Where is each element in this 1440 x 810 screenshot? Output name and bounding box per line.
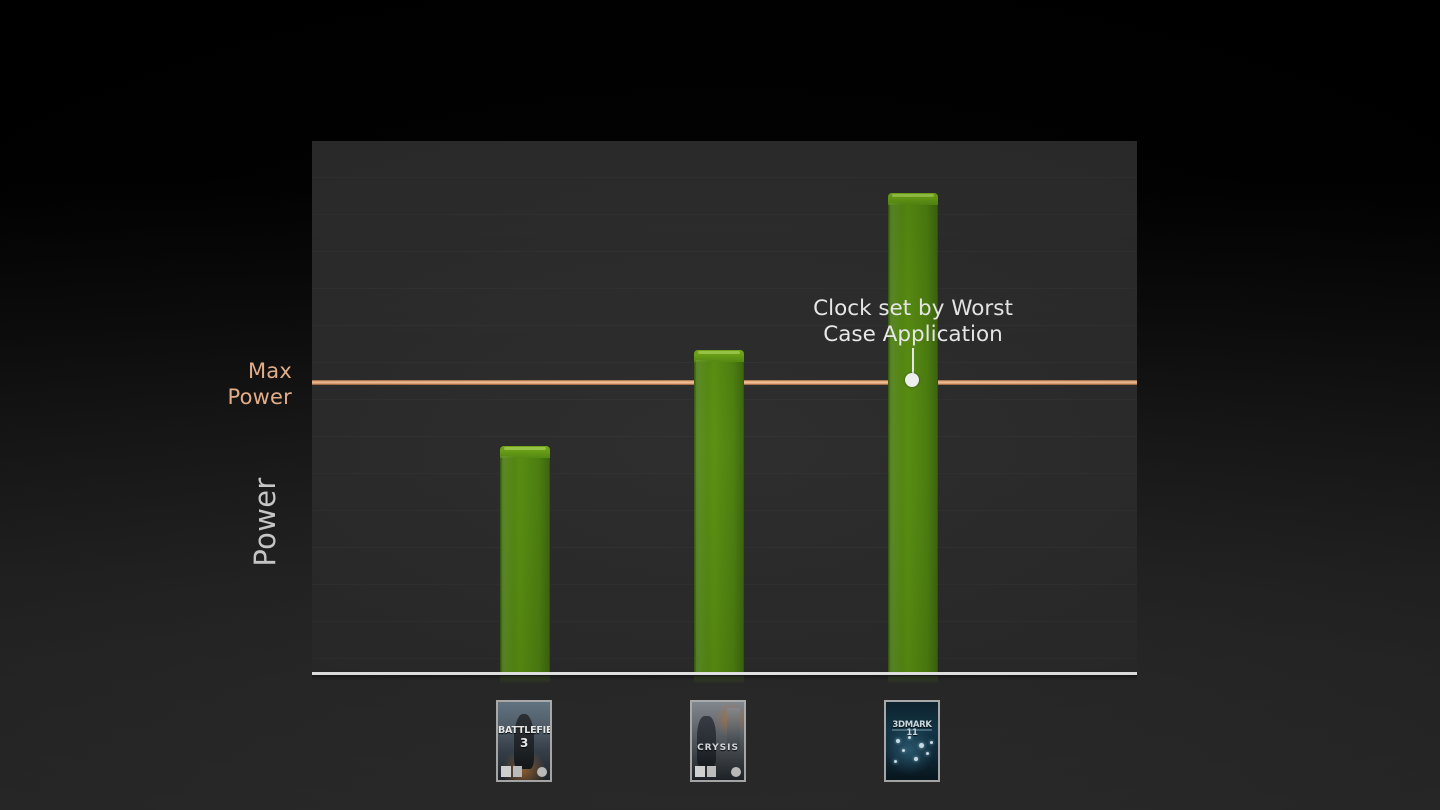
max-power-label-line1: Max (172, 358, 292, 384)
annotation-dot-marker (905, 373, 919, 387)
boxart-crysis-2: CRYSIS (692, 702, 744, 780)
bar-gloss (696, 360, 708, 673)
worst-case-annotation: Clock set by Worst Case Application (768, 296, 1058, 348)
boxart-figure (697, 716, 716, 766)
max-power-label: Max Power (172, 358, 292, 410)
platform-icon (513, 766, 522, 777)
publisher-logo-icon (731, 767, 741, 777)
boxart-particle (926, 752, 929, 755)
platform-icon (707, 766, 716, 777)
y-axis-label: Power (248, 457, 282, 587)
thumbnail-crysis-2: CRYSIS (690, 700, 746, 782)
max-power-label-line2: Power (172, 384, 292, 410)
bar-gloss (890, 203, 902, 673)
boxart-title: BATTLEFIELD (498, 726, 550, 736)
boxart-particle (896, 739, 900, 743)
bar-battlefield-3 (500, 446, 550, 673)
boxart-title: CRYSIS (692, 744, 744, 753)
slide-root: Max Power Power Clock set by Worst Case … (0, 0, 1440, 810)
annotation-line1: Clock set by Worst (768, 296, 1058, 322)
bar-3dmark-11 (888, 193, 938, 673)
thumbnail-battlefield-3: BATTLEFIELD 3 (496, 700, 552, 782)
thumbnail-3dmark-11: 3DMARK 11 (884, 700, 940, 782)
publisher-logo-icon (537, 767, 547, 777)
esrb-rating-icon (695, 766, 705, 777)
x-axis-shadow (312, 675, 1137, 680)
bar-crysis-2 (694, 350, 744, 673)
boxart-3dmark-11: 3DMARK 11 (886, 702, 938, 780)
boxart-number: 3 (520, 736, 528, 750)
esrb-rating-icon (501, 766, 511, 777)
boxart-particle (908, 736, 911, 739)
bar-gloss (502, 456, 514, 673)
boxart-particle (919, 743, 924, 748)
boxart-particle (930, 741, 933, 744)
boxart-battlefield-3: BATTLEFIELD 3 (498, 702, 550, 780)
boxart-particle (894, 760, 897, 763)
boxart-particle (914, 757, 918, 761)
annotation-line2: Case Application (768, 322, 1058, 348)
boxart-particle (902, 749, 905, 752)
boxart-tagline (892, 729, 932, 731)
